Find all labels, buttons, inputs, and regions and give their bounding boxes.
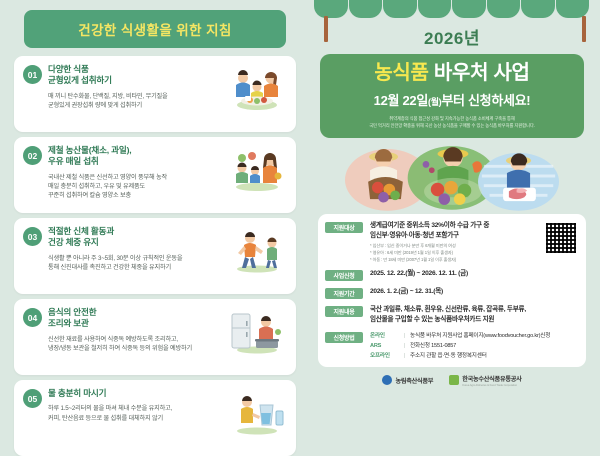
guide-body: 음식의 안전한 조리와 보관 신선한 재료를 사용하여 식중독 예방하도록 조리… bbox=[42, 307, 226, 353]
drinking-water-glass-icon bbox=[226, 389, 288, 435]
guide-number-badge: 02 bbox=[23, 146, 42, 165]
left-panel-header: 건강한 식생활을 위한 지침 bbox=[24, 10, 286, 48]
info-row-tag: 지원내용 bbox=[325, 306, 363, 317]
awning-decoration bbox=[314, 0, 590, 18]
poster-subtitle-weekday: (월) bbox=[428, 97, 441, 107]
at-corporation-logo-icon bbox=[449, 375, 459, 385]
guide-card-03: 03 적절한 신체 활동과 건강 체중 유지 식생활 뿐 아니라 주 3~5회,… bbox=[14, 218, 296, 294]
left-panel-header-title: 건강한 식생활을 위한 지침 bbox=[78, 19, 231, 39]
guide-card-02: 02 제철 농산물(채소, 과일), 우유 매일 섭취 국내산 제철 식품은 신… bbox=[14, 137, 296, 213]
guide-title: 다양한 식품 균형있게 섭취하기 bbox=[48, 64, 222, 87]
person-exercising-running-icon bbox=[226, 227, 288, 273]
family-eating-together-icon bbox=[226, 65, 288, 111]
right-panel-voucher-poster: 2026년 농식품 바우처 사업 12월 22일(월)부터 신청하세요! 취약계… bbox=[310, 0, 600, 425]
apply-method-key: 온라인 bbox=[370, 331, 404, 339]
info-row-lines: 국산 과일류, 채소류, 흰우유, 신선란류, 육류, 잡곡류, 두부류, 임산… bbox=[370, 305, 579, 324]
poster-description: 취약계층의 식품 접근성 강화 및 지속가능한 농식품 소비체계 구축을 통해 … bbox=[326, 115, 578, 129]
logo-ministry: 농림축산식품부 bbox=[382, 375, 433, 385]
info-row-content: 온라인 | 농식품 바우처 지원사업 홈페이지(www.foodvoucher.… bbox=[363, 331, 579, 359]
info-row-content: 2025. 12. 22.(월) ~ 2026. 12. 11. (금) bbox=[363, 269, 579, 279]
logo-at-corporation: 한국농수산식품유통공사 Korea Agro-Fisheries & Food … bbox=[449, 374, 521, 387]
apply-method-value: 전화신청 1551-0857 bbox=[410, 341, 579, 349]
poster-title-box: 농식품 바우처 사업 12월 22일(월)부터 신청하세요! 취약계층의 식품 … bbox=[320, 54, 584, 138]
awning-scallop bbox=[383, 0, 417, 18]
left-panel-dietary-guidelines: 건강한 식생활을 위한 지침 01 다양한 식품 균형있게 섭취하기 매 끼니 … bbox=[0, 0, 310, 425]
guide-number-badge: 05 bbox=[23, 389, 42, 408]
info-row-content: 2026. 1. 2.(금) ~ 12. 31.(목) bbox=[363, 287, 579, 297]
info-row-support-content: 지원내용 국산 과일류, 채소류, 흰우유, 신선란류, 육류, 잡곡류, 두부… bbox=[325, 305, 579, 324]
guide-number-badge: 01 bbox=[23, 65, 42, 84]
info-row-tag: 지원대상 bbox=[325, 222, 363, 233]
apply-method-value[interactable]: 농식품 바우처 지원사업 홈페이지(www.foodvoucher.go.kr)… bbox=[410, 331, 579, 339]
poster-subtitle-date: 12월 22일 bbox=[374, 93, 428, 108]
info-row-lines: 2025. 12. 22.(월) ~ 2026. 12. 11. (금) bbox=[370, 269, 579, 279]
info-row-tag: 신청방법 bbox=[325, 332, 363, 343]
apply-method-key: ARS bbox=[370, 343, 404, 349]
poster-subtitle: 12월 22일(월)부터 신청하세요! bbox=[326, 90, 578, 109]
guide-number-badge: 04 bbox=[23, 308, 42, 327]
info-row-content: 국산 과일류, 채소류, 흰우유, 신선란류, 육류, 잡곡류, 두부류, 임산… bbox=[363, 305, 579, 324]
poster-root: 건강한 식생활을 위한 지침 01 다양한 식품 균형있게 섭취하기 매 끼니 … bbox=[0, 0, 600, 425]
logo-name: 농림축산식품부 bbox=[395, 376, 433, 385]
poster-title-highlight: 농식품 bbox=[374, 62, 428, 84]
apply-method-ars: ARS | 전화신청 1551-0857 bbox=[370, 341, 579, 349]
mother-and-children-with-fruit-icon bbox=[226, 146, 288, 192]
logo-subtitle: Korea Agro-Fisheries & Food Trade Corpor… bbox=[462, 383, 521, 387]
guide-description: 식생활 뿐 아니라 주 3~5회, 30분 이상 규칙적인 운동을 통해 신진대… bbox=[48, 254, 222, 273]
info-row-lines: 2026. 1. 2.(금) ~ 12. 31.(목) bbox=[370, 287, 579, 297]
info-card: 지원대상 생계급여기준 중위소득 32%이하 수급 가구 중 임신부·영유아·아… bbox=[318, 214, 586, 366]
guide-description: 하루 1.5~2리터의 물을 마셔 체내 수분을 유지하고, 커피, 탄산음료 … bbox=[48, 404, 222, 423]
guide-card-01: 01 다양한 식품 균형있게 섭취하기 매 끼니 탄수화물, 단백질, 지방, … bbox=[14, 56, 296, 132]
info-row-tag: 지원기간 bbox=[325, 288, 363, 299]
guide-card-05: 05 물 충분히 마시기 하루 1.5~2리터의 물을 마셔 체내 수분을 유지… bbox=[14, 380, 296, 456]
apply-method-value: 주소지 관할 읍·면·동 행정복지센터 bbox=[410, 351, 579, 359]
guide-title: 물 충분히 마시기 bbox=[48, 388, 222, 399]
awning-scallop bbox=[452, 0, 486, 18]
guide-body: 물 충분히 마시기 하루 1.5~2리터의 물을 마셔 체내 수분을 유지하고,… bbox=[42, 388, 226, 423]
poster-title-rest: 바우처 사업 bbox=[429, 62, 530, 84]
awning-scallop bbox=[349, 0, 383, 18]
logo-name-text: 한국농수산식품유통공사 bbox=[462, 376, 521, 383]
guide-body: 다양한 식품 균형있게 섭취하기 매 끼니 탄수화물, 단백질, 지방, 비타민… bbox=[42, 64, 226, 110]
guide-body: 제철 농산물(채소, 과일), 우유 매일 섭취 국내산 제철 식품은 신선하고… bbox=[42, 145, 226, 201]
apply-method-offline: 오프라인 | 주소지 관할 읍·면·동 행정복지센터 bbox=[370, 351, 579, 359]
guide-number-badge: 03 bbox=[23, 227, 42, 246]
info-row-how-to-apply: 신청방법 온라인 | 농식품 바우처 지원사업 홈페이지(www.foodvou… bbox=[325, 331, 579, 359]
poster-year: 2026년 bbox=[312, 24, 592, 49]
logo-name: 한국농수산식품유통공사 Korea Agro-Fisheries & Food … bbox=[462, 374, 521, 387]
poster-subtitle-tail: 부터 신청하세요! bbox=[441, 93, 530, 108]
guide-card-04: 04 음식의 안전한 조리와 보관 신선한 재료를 사용하여 식중독 예방하도록… bbox=[14, 299, 296, 375]
info-row-application-period: 사업신청 2025. 12. 22.(월) ~ 2026. 12. 11. (금… bbox=[325, 269, 579, 281]
ministry-emblem-icon bbox=[382, 375, 392, 385]
awning-scallop bbox=[418, 0, 452, 18]
guide-list: 01 다양한 식품 균형있게 섭취하기 매 끼니 탄수화물, 단백질, 지방, … bbox=[14, 56, 296, 456]
guide-title: 음식의 안전한 조리와 보관 bbox=[48, 307, 222, 330]
awning-scallop bbox=[521, 0, 555, 18]
apply-method-key: 오프라인 bbox=[370, 351, 404, 359]
info-row-eligibility: 지원대상 생계급여기준 중위소득 32%이하 수급 가구 중 임신부·영유아·아… bbox=[325, 221, 579, 263]
guide-body: 적절한 신체 활동과 건강 체중 유지 식생활 뿐 아니라 주 3~5회, 30… bbox=[42, 226, 226, 272]
footer-logos: 농림축산식품부 한국농수산식품유통공사 Korea Agro-Fisheries… bbox=[312, 374, 592, 387]
qr-code-icon[interactable] bbox=[545, 222, 577, 254]
guide-title: 제철 농산물(채소, 과일), 우유 매일 섭취 bbox=[48, 145, 222, 168]
info-row-support-period: 지원기간 2026. 1. 2.(금) ~ 12. 31.(목) bbox=[325, 287, 579, 299]
guide-description: 국내산 제철 식품은 신선하고 영양이 풍부해 농작 매일 충분히 섭취하고, … bbox=[48, 173, 222, 201]
apply-method-online: 온라인 | 농식품 바우처 지원사업 홈페이지(www.foodvoucher.… bbox=[370, 331, 579, 339]
refrigerator-and-cooking-icon bbox=[226, 308, 288, 354]
info-row-tag: 사업신청 bbox=[325, 270, 363, 281]
awning-scallop bbox=[487, 0, 521, 18]
guide-description: 신선한 재료를 사용하여 식중독 예방하도록 조리하고, 냉장/냉동 보관을 철… bbox=[48, 335, 222, 354]
guide-description: 매 끼니 탄수화물, 단백질, 지방, 비타민, 무기질을 균형있게 권장섭취 … bbox=[48, 92, 222, 111]
poster-title: 농식품 바우처 사업 bbox=[326, 62, 578, 85]
apply-methods-list: 온라인 | 농식품 바우처 지원사업 홈페이지(www.foodvoucher.… bbox=[370, 331, 579, 359]
awning-scallop bbox=[314, 0, 348, 18]
three-farmers-holding-produce-icon bbox=[318, 140, 586, 212]
guide-title: 적절한 신체 활동과 건강 체중 유지 bbox=[48, 226, 222, 249]
